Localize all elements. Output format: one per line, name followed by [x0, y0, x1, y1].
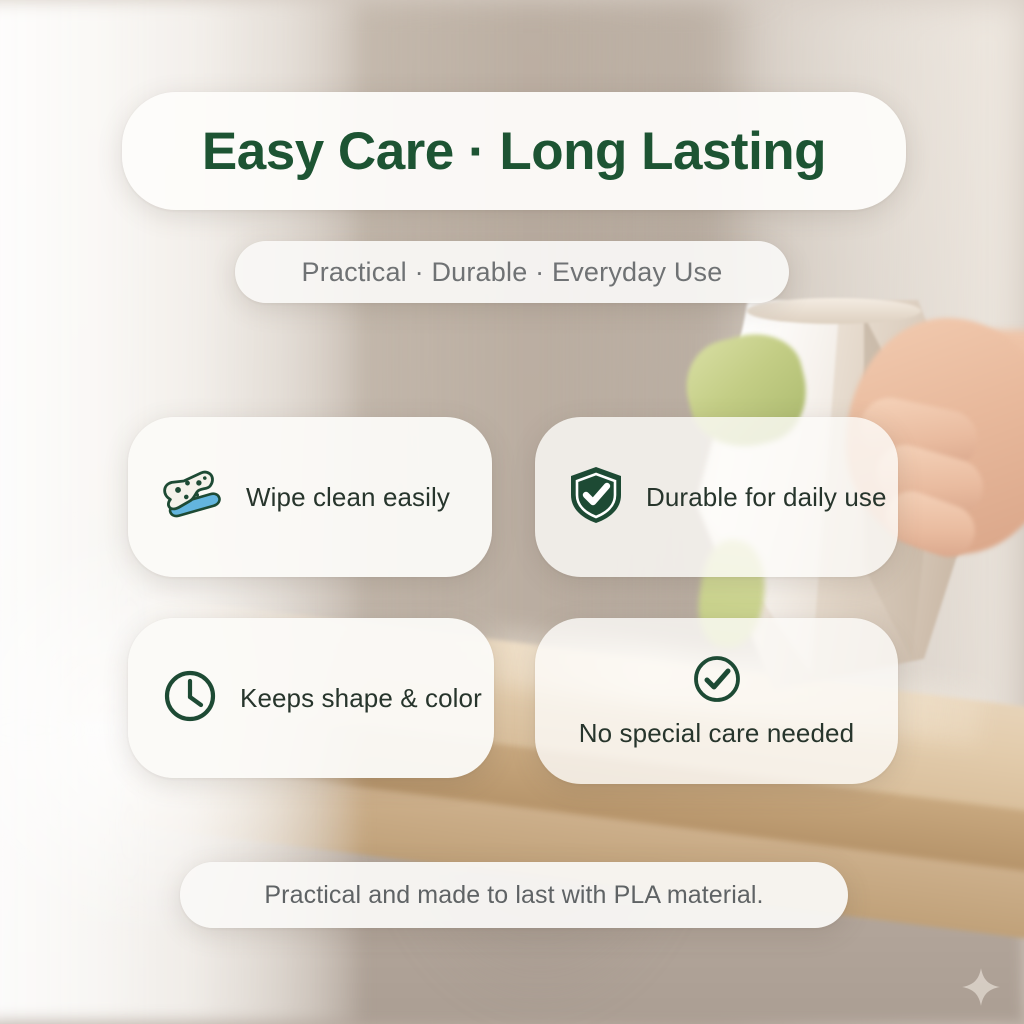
footer-banner: Practical and made to last with PLA mate… — [180, 862, 848, 928]
sparkle-icon — [960, 966, 1002, 1008]
feature-label: No special care needed — [579, 718, 854, 749]
overlay-content: Easy Care · Long Lasting Practical · Dur… — [0, 0, 1024, 1024]
shield-check-icon — [568, 465, 624, 530]
feature-label: Keeps shape & color — [240, 683, 482, 714]
sponge-icon — [162, 469, 224, 526]
check-circle-icon — [691, 653, 743, 710]
title-banner: Easy Care · Long Lasting — [122, 92, 906, 210]
page-subtitle: Practical · Durable · Everyday Use — [302, 257, 723, 288]
feature-card-no-special-care[interactable]: No special care needed — [535, 618, 898, 784]
footer-text: Practical and made to last with PLA mate… — [264, 881, 763, 910]
subtitle-banner: Practical · Durable · Everyday Use — [235, 241, 789, 303]
feature-card-wipe-clean[interactable]: Wipe clean easily — [128, 417, 492, 577]
feature-label: Durable for daily use — [646, 482, 887, 513]
page-title: Easy Care · Long Lasting — [202, 121, 826, 182]
clock-icon — [162, 668, 218, 729]
feature-card-durable[interactable]: Durable for daily use — [535, 417, 898, 577]
feature-label: Wipe clean easily — [246, 482, 450, 513]
feature-card-keeps-shape[interactable]: Keeps shape & color — [128, 618, 494, 778]
